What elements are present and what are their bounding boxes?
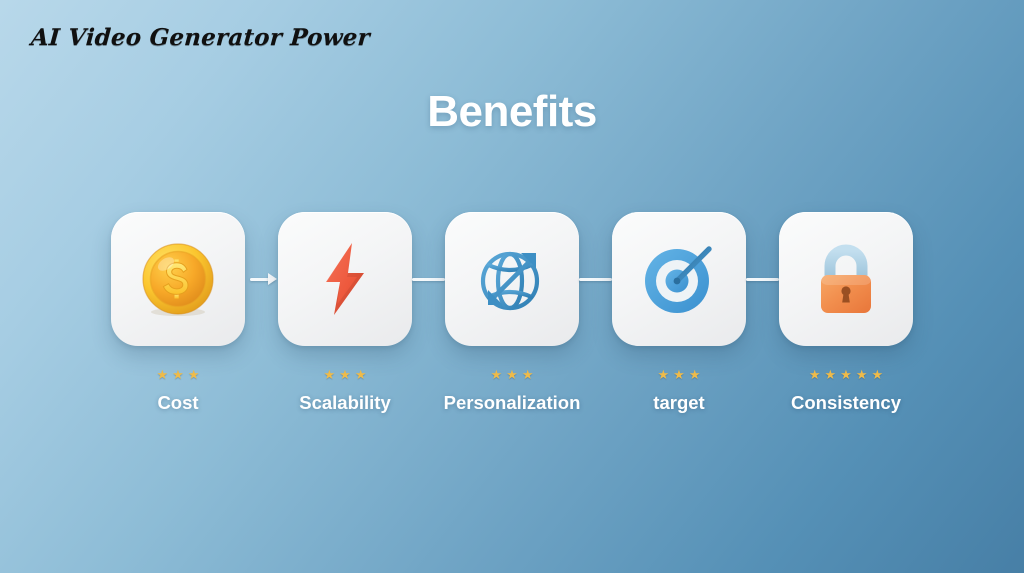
gold-coin-dollar-icon [139,240,217,318]
connector-line [746,278,779,281]
benefit-card-consistency[interactable] [779,212,913,346]
rating-stars: ★★★ [491,368,534,381]
benefit-label: Personalization [444,392,581,414]
benefit-step-consistency[interactable]: ★★★★★Consistency [779,212,913,414]
star-icon: ★ [673,368,685,381]
rating-stars: ★★★ [157,368,200,381]
star-icon: ★ [658,368,670,381]
globe-expand-arrows-icon [470,237,554,321]
star-icon: ★ [856,368,868,381]
star-icon: ★ [809,368,821,381]
benefit-step-scalability[interactable]: ★★★Scalability [278,212,412,414]
benefit-card-cost[interactable] [111,212,245,346]
star-icon: ★ [172,368,184,381]
star-icon: ★ [522,368,534,381]
benefit-card-target[interactable] [612,212,746,346]
star-icon: ★ [339,368,351,381]
star-icon: ★ [157,368,169,381]
benefit-card-scalability[interactable] [278,212,412,346]
star-icon: ★ [840,368,852,381]
rating-stars: ★★★ [658,368,701,381]
connector-line [412,278,445,281]
brand-wordmark: AI Video Generator Power [30,24,371,51]
star-icon: ★ [825,368,837,381]
benefit-step-personalization[interactable]: ★★★Personalization [445,212,579,414]
star-icon: ★ [355,368,367,381]
connector-line [579,278,612,281]
flow-connector-line [412,212,445,346]
star-icon: ★ [324,368,336,381]
star-icon: ★ [871,368,883,381]
star-icon: ★ [506,368,518,381]
rating-stars: ★★★ [324,368,367,381]
arrow-head-icon [268,273,277,285]
benefit-label: Scalability [299,392,391,414]
benefit-step-target[interactable]: ★★★target [612,212,746,414]
page-title: Benefits [0,87,1024,137]
rating-stars: ★★★★★ [809,368,883,381]
flow-connector-arrow [245,212,278,346]
benefit-step-cost[interactable]: ★★★Cost [111,212,245,414]
flow-connector-line [579,212,612,346]
benefits-flow: ★★★Cost ★★★Scalability [0,212,1024,414]
lightning-bolt-icon [306,240,384,318]
benefit-label: Cost [157,392,198,414]
benefit-card-personalization[interactable] [445,212,579,346]
star-icon: ★ [689,368,701,381]
padlock-icon [806,239,886,319]
star-icon: ★ [188,368,200,381]
flow-connector-line [746,212,779,346]
target-bullseye-arrow-icon [637,237,721,321]
star-icon: ★ [491,368,503,381]
benefit-label: Consistency [791,392,901,414]
benefit-label: target [653,392,704,414]
